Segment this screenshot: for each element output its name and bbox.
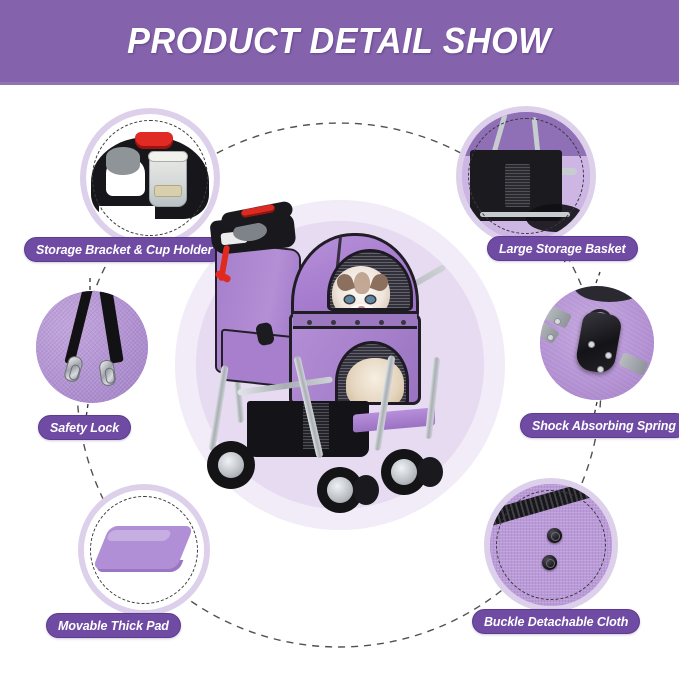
feature-image-safety-lock[interactable] <box>36 291 148 403</box>
stroller-front-door-window <box>335 341 409 405</box>
feature-label-movable-thick-pad[interactable]: Movable Thick Pad <box>46 613 181 638</box>
feature-label-buckle-detachable-cloth[interactable]: Buckle Detachable Cloth <box>472 609 640 634</box>
header-divider <box>0 82 679 85</box>
header-banner: PRODUCT DETAIL SHOW <box>0 0 679 82</box>
page-title: PRODUCT DETAIL SHOW <box>128 20 552 62</box>
feature-image-buckle-detachable-cloth[interactable] <box>490 484 612 606</box>
stroller-front-trim <box>293 311 417 329</box>
feature-label-large-storage-basket[interactable]: Large Storage Basket <box>487 236 638 261</box>
stroller-wheel-rear-left <box>207 441 255 489</box>
product-detail-page: PRODUCT DETAIL SHOW <box>0 0 679 679</box>
feature-label-shock-absorbing-spring[interactable]: Shock Absorbing Spring <box>520 413 679 438</box>
feature-image-shock-absorbing-spring[interactable] <box>540 286 654 400</box>
feature-label-safety-lock[interactable]: Safety Lock <box>38 415 131 440</box>
stroller-canopy-window <box>327 249 413 311</box>
product-image-pet-stroller[interactable] <box>185 205 495 515</box>
cat-in-stroller <box>332 266 390 311</box>
pet-in-lower-compartment <box>346 358 404 405</box>
